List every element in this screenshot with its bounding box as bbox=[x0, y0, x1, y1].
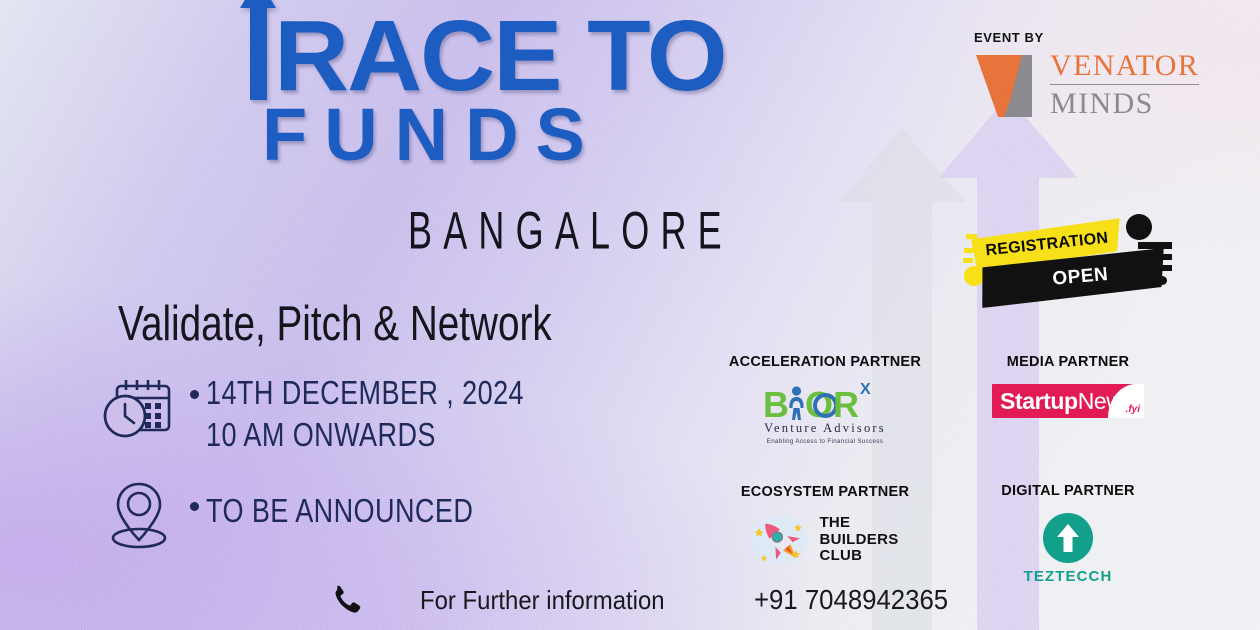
logo-line-funds: FUNDS bbox=[232, 104, 708, 166]
partner-logo: THE BUILDERS CLUB bbox=[700, 514, 950, 566]
contact-line: For Further information +91 7048942365 bbox=[328, 583, 965, 617]
builders-club-line1: THE bbox=[819, 515, 898, 532]
venator-minds-wordmark: VENATOR MINDS bbox=[1050, 51, 1199, 121]
event-time: 10 AM ONWARDS bbox=[206, 414, 524, 456]
badge-bar bbox=[1138, 242, 1172, 249]
teztecch-arrow-icon bbox=[1043, 513, 1093, 563]
detail-text-venue: TO BE ANNOUNCED bbox=[206, 478, 473, 532]
badge-bar-yellow bbox=[966, 234, 977, 239]
bullet-dot bbox=[182, 478, 206, 511]
tagline: Validate, Pitch & Network bbox=[118, 295, 552, 352]
event-details: 14TH DECEMBER , 2024 10 AM ONWARDS TO BE… bbox=[96, 372, 594, 552]
partner-logo: StartupNews .fyi bbox=[950, 384, 1186, 418]
startupnews-fyi-text: .fyi bbox=[1126, 404, 1140, 415]
startupnews-logo-icon: StartupNews .fyi bbox=[992, 384, 1144, 418]
event-by-label: EVENT BY bbox=[974, 30, 1199, 45]
startupnews-bold: Startup bbox=[1000, 388, 1078, 414]
badge-dot bbox=[1126, 214, 1152, 240]
biorx-logo-icon: B O R X Venture Advisors Enabling Access… bbox=[763, 384, 887, 445]
teztecch-logo: TEZTECCH bbox=[1024, 513, 1113, 585]
venator-vm-monogram-icon bbox=[974, 53, 1046, 119]
contact-label: For Further information bbox=[420, 585, 665, 616]
bullet-dot bbox=[182, 372, 206, 399]
biorx-letter-b: B bbox=[763, 384, 789, 426]
location-pin-icon bbox=[96, 478, 182, 552]
biorx-letter-x: X bbox=[860, 381, 871, 399]
builders-club-line2: BUILDERS bbox=[819, 532, 898, 549]
logo-line-race-to: RACE TO bbox=[232, 14, 708, 98]
event-logo: RACE TO FUNDS bbox=[232, 14, 708, 166]
builders-club-rocket-icon bbox=[751, 514, 809, 566]
contact-phone-number: +91 7048942365 bbox=[754, 584, 948, 616]
builders-club-logo: THE BUILDERS CLUB bbox=[751, 514, 898, 566]
venator-text: VENATOR bbox=[1050, 51, 1199, 82]
partner-logo: B O R X Venture Advisors Enabling Access… bbox=[700, 384, 950, 445]
detail-text-datetime: 14TH DECEMBER , 2024 10 AM ONWARDS bbox=[206, 372, 524, 456]
partner-title: MEDIA PARTNER bbox=[950, 354, 1186, 370]
biorx-letter-r: R bbox=[833, 384, 859, 426]
event-date: 14TH DECEMBER , 2024 bbox=[206, 372, 524, 414]
biorx-tagline: Enabling Access to Financial Success bbox=[763, 438, 887, 445]
teztecch-wordmark: TEZTECCH bbox=[1024, 568, 1113, 585]
partner-title: ECOSYSTEM PARTNER bbox=[700, 484, 950, 500]
logo-race-text: RACE TO bbox=[274, 14, 726, 98]
partner-digital: DIGITAL PARTNER TEZTECCH bbox=[950, 483, 1186, 585]
registration-open-badge[interactable]: REGISTRATION OPEN bbox=[962, 216, 1178, 312]
detail-row-datetime: 14TH DECEMBER , 2024 10 AM ONWARDS bbox=[96, 372, 594, 456]
city-name: BANGALORE bbox=[408, 200, 733, 261]
partner-acceleration: ACCELERATION PARTNER B O R X Venture Adv… bbox=[700, 354, 950, 445]
detail-row-venue: TO BE ANNOUNCED bbox=[96, 478, 594, 552]
event-poster: RACE TO FUNDS BANGALORE Validate, Pitch … bbox=[0, 0, 1260, 630]
minds-text: MINDS bbox=[1050, 87, 1199, 121]
phone-icon bbox=[328, 583, 372, 617]
partner-title: DIGITAL PARTNER bbox=[950, 483, 1186, 499]
badge-bar-yellow bbox=[963, 258, 973, 263]
builders-club-wordmark: THE BUILDERS CLUB bbox=[819, 515, 898, 565]
event-by-block: EVENT BY VENATOR MINDS bbox=[974, 30, 1199, 121]
logo-funds-text: FUNDS bbox=[262, 104, 602, 166]
venator-minds-logo: VENATOR MINDS bbox=[974, 51, 1199, 121]
partner-logo: TEZTECCH bbox=[950, 513, 1186, 585]
partner-media: MEDIA PARTNER StartupNews .fyi bbox=[950, 354, 1186, 418]
builders-club-line3: CLUB bbox=[819, 548, 898, 565]
open-text: OPEN bbox=[1052, 264, 1110, 291]
biorx-figure-icon bbox=[788, 386, 805, 420]
calendar-clock-icon bbox=[96, 372, 182, 442]
partner-title: ACCELERATION PARTNER bbox=[700, 354, 950, 370]
partner-ecosystem: ECOSYSTEM PARTNER bbox=[700, 484, 950, 566]
registration-text: REGISTRATION bbox=[985, 230, 1110, 261]
divider bbox=[1050, 84, 1199, 85]
up-arrow-icon bbox=[240, 0, 276, 100]
